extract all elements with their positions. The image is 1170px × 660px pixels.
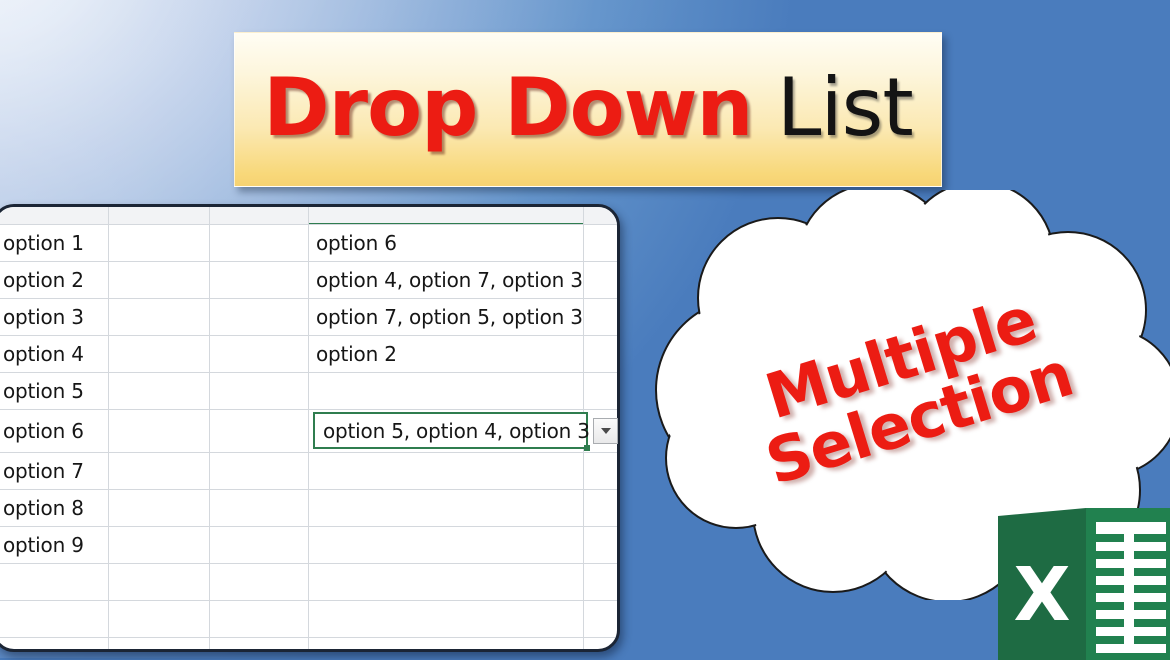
- cell-a1[interactable]: option 1: [3, 225, 84, 261]
- cell-a4[interactable]: option 4: [3, 336, 84, 372]
- grid-line-v: [108, 207, 109, 649]
- cell-d4[interactable]: option 2: [316, 336, 397, 372]
- grid-line-v: [209, 207, 210, 649]
- cell-d3[interactable]: option 7, option 5, option 3: [316, 299, 583, 335]
- cell-a9[interactable]: option 9: [3, 527, 84, 563]
- cell-a8[interactable]: option 8: [3, 490, 84, 526]
- title-black-word: List: [777, 61, 913, 154]
- cell-d1[interactable]: option 6: [316, 225, 397, 261]
- excel-letter: X: [1013, 552, 1070, 638]
- excel-icon: X: [998, 508, 1170, 660]
- title-red-text: Drop Down: [263, 61, 752, 154]
- cell-a2[interactable]: option 2: [3, 262, 84, 298]
- page-title: Drop Down List: [263, 68, 912, 148]
- title-banner: Drop Down List: [234, 32, 942, 187]
- grid-line-v: [308, 207, 309, 649]
- dropdown-arrow-button[interactable]: [593, 418, 618, 444]
- fill-handle[interactable]: [584, 445, 590, 451]
- selected-cell[interactable]: option 5, option 4, option 3: [313, 412, 588, 449]
- cell-a6[interactable]: option 6: [3, 413, 84, 449]
- cell-a3[interactable]: option 3: [3, 299, 84, 335]
- cell-d2[interactable]: option 4, option 7, option 3: [316, 262, 583, 298]
- cell-a5[interactable]: option 5: [3, 373, 84, 409]
- cell-a7[interactable]: option 7: [3, 453, 84, 489]
- selected-cell-value: option 5, option 4, option 3: [323, 414, 590, 447]
- chevron-down-icon: [601, 428, 611, 434]
- title-black-text: [752, 61, 776, 154]
